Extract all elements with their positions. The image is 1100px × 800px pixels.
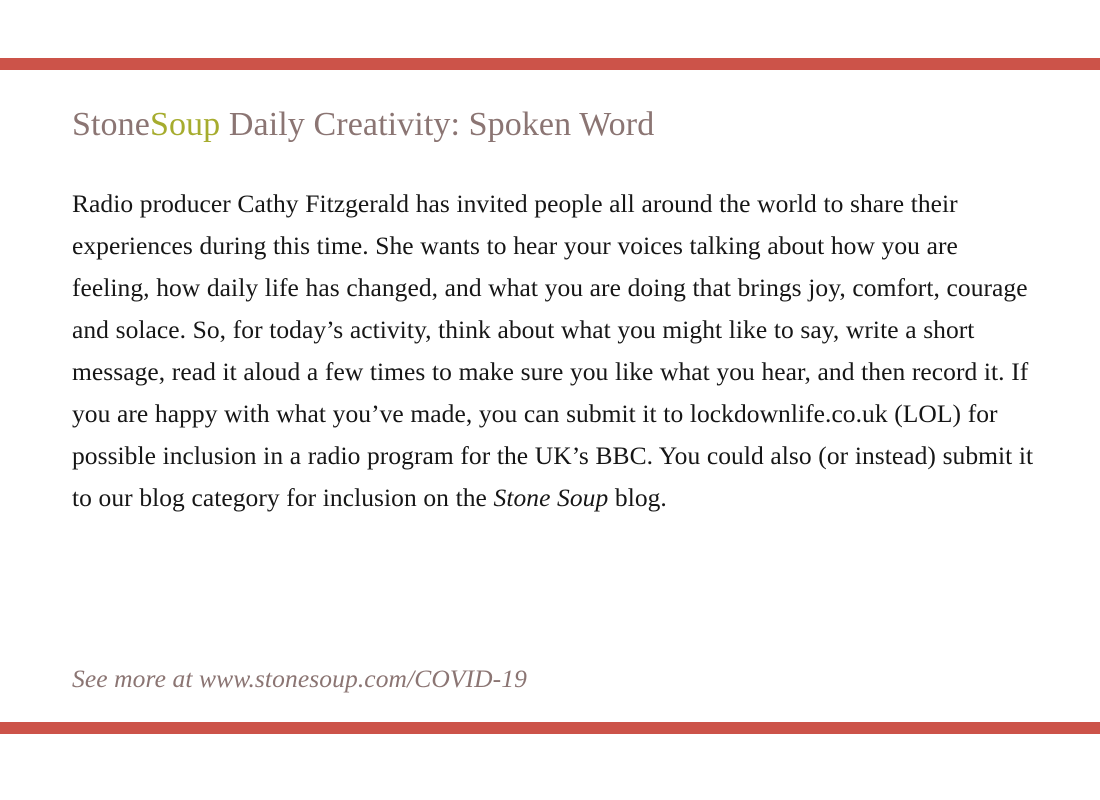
activity-description-part-1: Radio producer Cathy Fitzgerald has invi… [72, 189, 1033, 512]
page-title: StoneSoup Daily Creativity: Spoken Word [72, 105, 654, 145]
bottom-divider-rule [0, 722, 1100, 734]
activity-description: Radio producer Cathy Fitzgerald has invi… [72, 183, 1034, 519]
activity-description-part-2: blog. [608, 483, 667, 512]
top-divider-rule [0, 58, 1100, 70]
see-more-link[interactable]: See more at www.stonesoup.com/COVID-19 [72, 662, 527, 696]
poster-page: StoneSoup Daily Creativity: Spoken Word … [0, 0, 1100, 800]
page-title-rest: Daily Creativity: Spoken Word [220, 106, 654, 143]
brand-word-stone: Stone [72, 106, 150, 143]
brand-word-soup: Soup [150, 106, 220, 143]
stone-soup-italic-mention: Stone Soup [494, 483, 609, 512]
